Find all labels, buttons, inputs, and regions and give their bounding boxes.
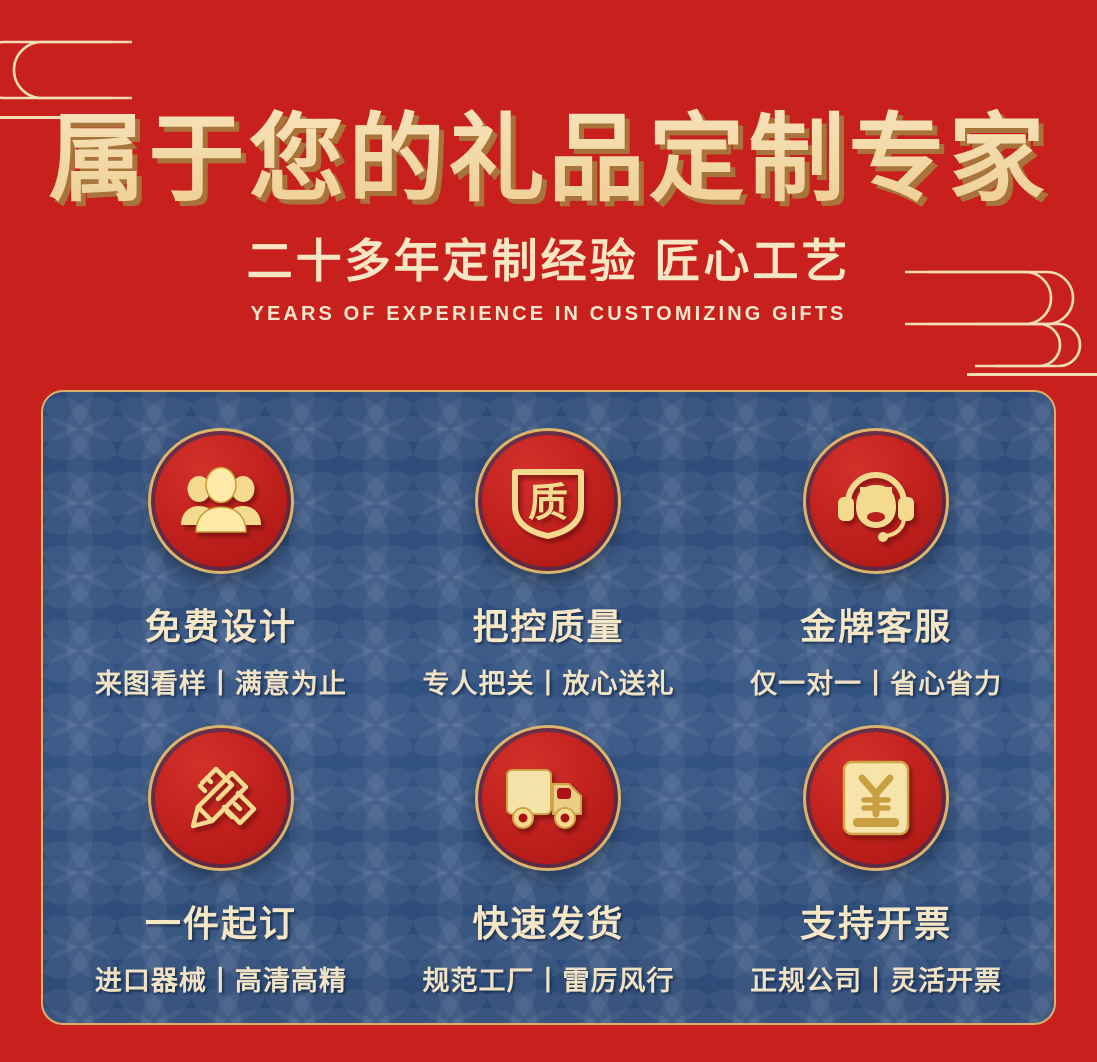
group-people-icon [179,462,263,540]
feature-grid: 免费设计 来图看样丨满意为止 质 把控质量 专人把关丨放心送礼 [43,392,1054,1023]
feature-icon-badge [148,428,294,574]
headset-support-icon [832,459,920,543]
feature-card-gold-service[interactable]: 金牌客服 仅一对一丨省心省力 [712,414,1040,711]
feature-icon-badge [475,725,621,871]
feature-card-min-order[interactable]: 一件起订 进口器械丨高清高精 [57,711,385,1008]
pencil-ruler-icon [178,755,264,841]
feature-card-invoice[interactable]: 支持开票 正规公司丨灵活开票 [712,711,1040,1008]
page-title: 属于您的礼品定制专家 [0,0,1097,208]
page-subtitle: 二十多年定制经验 匠心工艺 [0,208,1097,289]
feature-subtitle: 来图看样丨满意为止 [95,650,347,701]
feature-card-quality-control[interactable]: 质 把控质量 专人把关丨放心送礼 [385,414,713,711]
feature-icon-badge [803,725,949,871]
feature-icon-badge [803,428,949,574]
feature-subtitle: 进口器械丨高清高精 [95,947,347,998]
quality-shield-icon: 质 [505,458,591,544]
feature-title: 一件起订 [145,871,297,947]
banner-headline: 属于您的礼品定制专家 二十多年定制经验 匠心工艺 YEARS OF EXPERI… [0,0,1097,326]
feature-title: 把控质量 [472,574,624,650]
feature-title: 免费设计 [145,574,297,650]
feature-card-fast-shipping[interactable]: 快速发货 规范工厂丨雷厉风行 [385,711,713,1008]
feature-title: 支持开票 [800,871,952,947]
feature-subtitle: 专人把关丨放心送礼 [422,650,674,701]
invoice-yuan-icon [838,758,914,838]
feature-subtitle: 规范工厂丨雷厉风行 [422,947,674,998]
delivery-truck-icon [503,762,593,834]
feature-title: 金牌客服 [800,574,952,650]
feature-icon-badge [148,725,294,871]
feature-icon-badge: 质 [475,428,621,574]
feature-title: 快速发货 [472,871,624,947]
feature-subtitle: 正规公司丨灵活开票 [750,947,1002,998]
feature-subtitle: 仅一对一丨省心省力 [750,650,1002,701]
page-subtitle-english: YEARS OF EXPERIENCE IN CUSTOMIZING GIFTS [0,289,1097,326]
svg-text:质: 质 [528,480,568,525]
feature-card-free-design[interactable]: 免费设计 来图看样丨满意为止 [57,414,385,711]
ruyi-arc-right-lower [967,318,1097,378]
feature-panel: 免费设计 来图看样丨满意为止 质 把控质量 专人把关丨放心送礼 [41,390,1056,1025]
